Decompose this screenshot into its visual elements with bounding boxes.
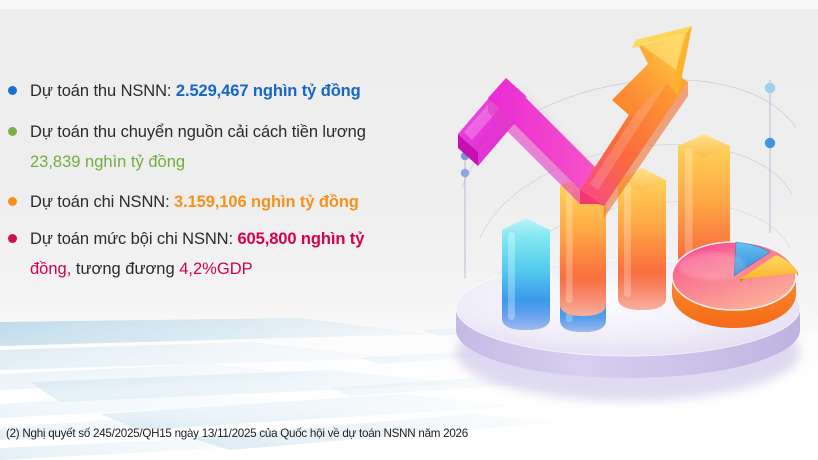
bullet-text-revenue: Dự toán thu NSNN: 2.529,467 nghìn tỷ đồn… <box>30 78 361 105</box>
pie-chart <box>672 242 798 328</box>
bullet-label-deficit: Dự toán mức bội chi NSNN: <box>30 230 233 248</box>
bullet-label-salary-reform: Dự toán thu chuyển nguồn cải cách tiền l… <box>30 119 366 146</box>
bullet-label-expenditure: Dự toán chi NSNN: <box>30 193 170 211</box>
bullet-text-deficit: Dự toán mức bội chi NSNN: 605,800 nghìn … <box>30 226 364 253</box>
list-item: Dự toán chi NSNN: 3.159,106 nghìn tỷ đồn… <box>8 189 448 216</box>
bullet-marker-expenditure <box>8 197 17 206</box>
bullet-text-expenditure: Dự toán chi NSNN: 3.159,106 nghìn tỷ đồn… <box>30 189 359 216</box>
bar-1 <box>502 218 550 330</box>
bullet-value-deficit: 605,800 nghìn tỷ <box>233 230 364 248</box>
bullet-value-revenue: 2.529,467 nghìn tỷ đồng <box>171 82 360 100</box>
bullet-value-expenditure: 3.159,106 nghìn tỷ đồng <box>170 193 359 211</box>
dot-right-lower <box>765 138 775 148</box>
bullet-value-salary-reform: 23,839 nghìn tỷ đồng <box>30 153 185 171</box>
dot-left-lower <box>461 169 469 177</box>
bullet-marker-deficit <box>8 234 17 243</box>
list-item: Dự toán thu NSNN: 2.529,467 nghìn tỷ đồn… <box>8 78 448 105</box>
list-item: Dự toán thu chuyển nguồn cải cách tiền l… <box>8 119 448 146</box>
bullet-marker-revenue <box>8 86 17 95</box>
bullet-marker-salary-reform <box>8 127 17 136</box>
bar-4 <box>618 168 666 310</box>
bullet-label-revenue: Dự toán thu NSNN: <box>30 82 171 100</box>
list-item: Dự toán mức bội chi NSNN: 605,800 nghìn … <box>8 226 448 253</box>
footnote: (2) Nghị quyết số 245/2025/QH15 ngày 13/… <box>6 427 468 440</box>
bullet-tail-label-deficit: tương đương <box>71 260 179 278</box>
bullet-value-deficit-cont: đồng, <box>30 260 71 278</box>
bullet-list: Dự toán thu NSNN: 2.529,467 nghìn tỷ đồn… <box>8 78 448 289</box>
illustration-3d-analytics <box>440 8 818 408</box>
bullet-value-salary-reform-wrapper: 23,839 nghìn tỷ đồng <box>30 149 448 176</box>
dot-right-upper <box>765 83 775 93</box>
bullet-value-gdp-ratio: 4,2%GDP <box>179 260 252 278</box>
slide-root: Dự toán thu NSNN: 2.529,467 nghìn tỷ đồn… <box>0 0 818 460</box>
bullet-deficit-continuation: đồng, tương đương 4,2%GDP <box>30 256 448 283</box>
